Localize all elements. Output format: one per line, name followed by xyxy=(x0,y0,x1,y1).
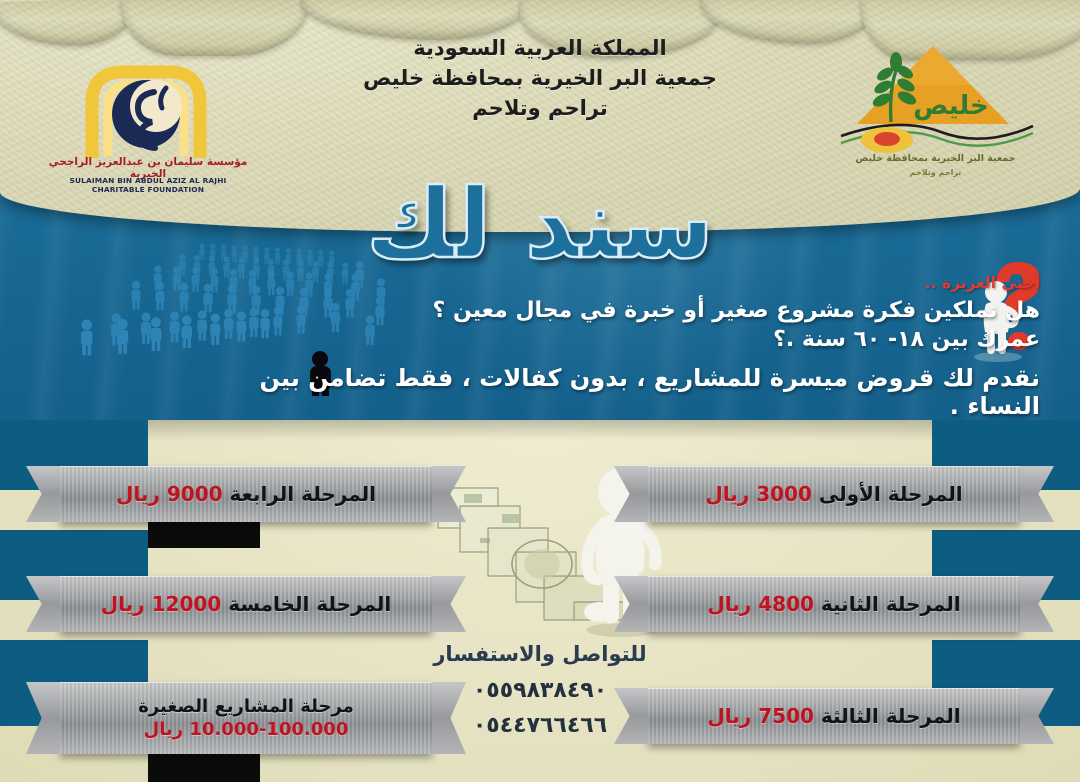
poster-root: المملكة العربية السعودية جمعية البر الخي… xyxy=(0,0,1080,782)
al-rajhi-logo-mark xyxy=(80,62,212,158)
page-title: سند لك xyxy=(0,176,1080,272)
stage-4-text: المرحلة الرابعة 9000 ريال xyxy=(100,482,392,506)
stage-4-label: المرحلة الرابعة xyxy=(230,482,376,506)
stage-1-text: المرحلة الأولى 3000 ريال xyxy=(689,482,978,506)
stage-1-label: المرحلة الأولى xyxy=(819,482,963,506)
khulais-caption-1: جمعية البر الخيرية بمحافظة خليص xyxy=(833,153,1038,164)
body-question-2: عمرك بين ١٨- ٦٠ سنة .؟ xyxy=(180,327,1040,352)
body-question-1: هل تملكين فكرة مشروع صغير أو خبرة في مجا… xyxy=(180,298,1040,323)
contact-phone-2[interactable]: ٠٥٤٤٧٦٦٤٦٦ xyxy=(0,713,1080,738)
stage-ribbon-2[interactable]: المرحلة الثانية 4800 ريال xyxy=(648,576,1020,632)
stage-2-text: المرحلة الثانية 4800 ريال xyxy=(691,592,976,616)
stage-4-amount: 9000 ريال xyxy=(116,482,223,506)
body-offer-line: نقدم لك قروض ميسرة للمشاريع ، بدون كفالا… xyxy=(180,364,1040,420)
body-copy-block: أختي العزيزة .. هل تملكين فكرة مشروع صغي… xyxy=(180,274,1040,420)
stage-5-amount: 12000 ريال xyxy=(101,592,221,616)
contact-label: للتواصل والاستفسار xyxy=(0,642,1080,666)
stage-5-label: المرحلة الخامسة xyxy=(228,592,391,616)
stage-5-text: المرحلة الخامسة 12000 ريال xyxy=(85,592,407,616)
stage-2-amount: 4800 ريال xyxy=(707,592,814,616)
contact-block: للتواصل والاستفسار ٠٥٥٩٨٣٨٤٩٠ ٠٥٤٤٧٦٦٤٦٦ xyxy=(0,642,1080,748)
stage-ribbon-1[interactable]: المرحلة الأولى 3000 ريال xyxy=(648,466,1020,522)
khulais-charity-logo: خليص جمعية البر الخيرية بمحافظة خليص ترا… xyxy=(833,40,1038,190)
stage-ribbon-4[interactable]: المرحلة الرابعة 9000 ريال xyxy=(60,466,432,522)
stage-ribbon-5[interactable]: المرحلة الخامسة 12000 ريال xyxy=(60,576,432,632)
contact-phone-1[interactable]: ٠٥٥٩٨٣٨٤٩٠ xyxy=(0,678,1080,703)
body-kicker: أختي العزيزة .. xyxy=(180,274,1040,292)
stage-1-amount: 3000 ريال xyxy=(705,482,812,506)
stage-2-label: المرحلة الثانية xyxy=(821,592,961,616)
khulais-wordmark: خليص xyxy=(913,91,988,121)
khulais-logo-mark: خليص xyxy=(833,40,1038,158)
